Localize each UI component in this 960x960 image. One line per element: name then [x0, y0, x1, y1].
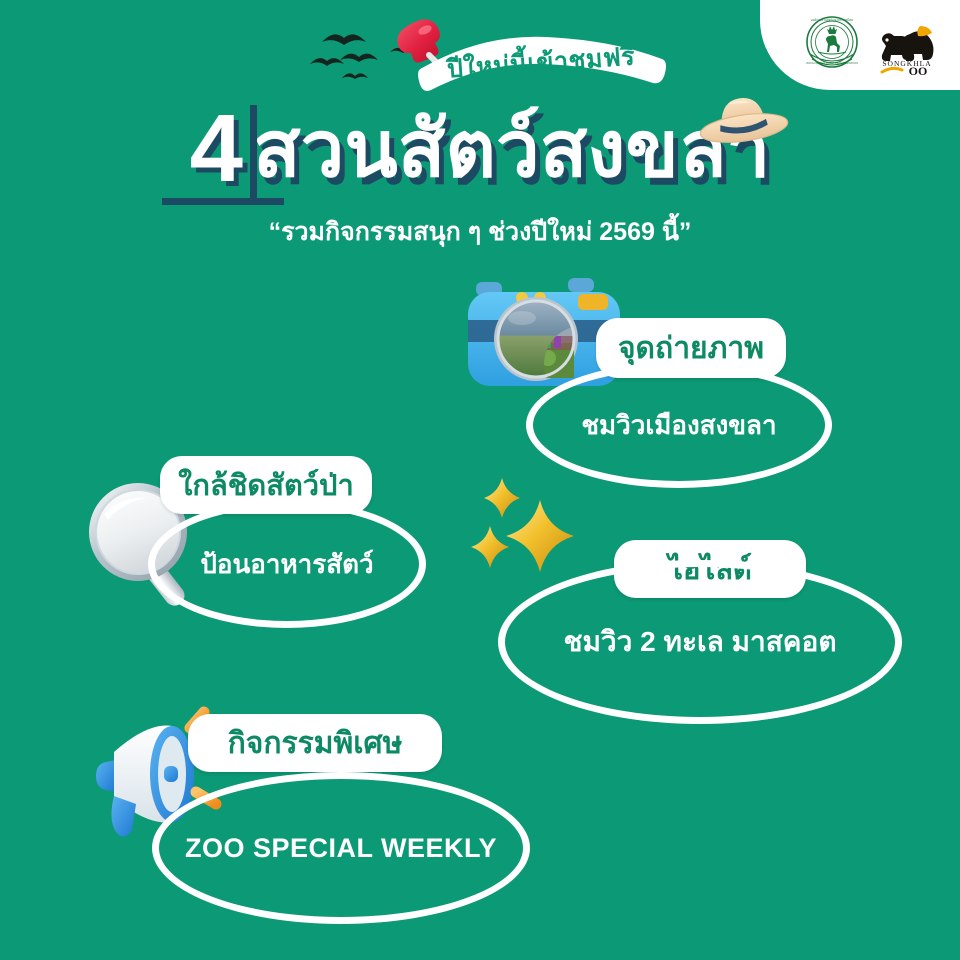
feature-badge-special-activity: กิจกรรมพิเศษ	[188, 714, 442, 772]
svg-text:ZOOLOGICAL PARK ORGANIZATION: ZOOLOGICAL PARK ORGANIZATION	[806, 61, 858, 65]
svg-text:OO: OO	[909, 64, 928, 76]
hat-icon	[692, 88, 796, 162]
songkhla-zoo-logo: SONGKHLA OO	[874, 20, 940, 76]
svg-text:องค์การสวนสัตว์แห่งประเทศไทย: องค์การสวนสัตว์แห่งประเทศไทย	[811, 18, 853, 22]
big-number-text: 4	[190, 95, 243, 202]
feature-text-highlight: ชมวิว 2 ทะเล มาสคอต	[498, 560, 902, 724]
page-subtitle: “รวมกิจกรรมสนุก ๆ ช่วงปีใหม่ 2569 นี้”	[0, 212, 960, 252]
number-accent-bar-vertical	[250, 105, 257, 199]
logo-panel: องค์การสวนสัตว์แห่งประเทศไทย ZOOLOGICAL …	[760, 0, 960, 90]
number-accent-bar-horizontal	[162, 198, 284, 205]
zpo-deer-emblem: องค์การสวนสัตว์แห่งประเทศไทย ZOOLOGICAL …	[800, 12, 864, 76]
poster-root: ปีใหม่นี้เข้าชมฟรี องค์การสวนสัตว์แห่งปร…	[0, 0, 960, 960]
feature-text-wildlife: ป้อนอาหารสัตว์	[148, 500, 426, 628]
feature-text-special-activity: ZOO SPECIAL WEEKLY	[152, 772, 530, 924]
feature-text-camera: ชมวิวเมืองสงขลา	[526, 362, 832, 488]
title-row: 4 สวนสัตว์สงขลา	[0, 96, 960, 201]
big-number: 4	[190, 101, 243, 197]
ribbon-banner: ปีใหม่นี้เข้าชมฟรี	[416, 32, 666, 94]
